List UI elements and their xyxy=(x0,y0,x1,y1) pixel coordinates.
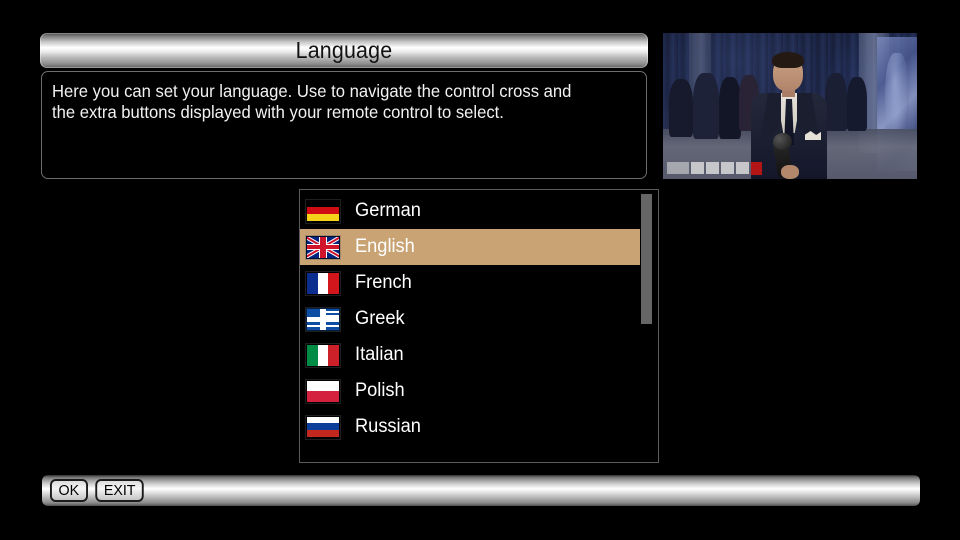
flag-germany-icon xyxy=(306,200,340,223)
language-label: French xyxy=(355,272,412,294)
video-crowd-2 xyxy=(693,73,719,139)
channel-logo-mark xyxy=(751,162,762,175)
video-crowd-6 xyxy=(847,77,867,131)
list-item-english[interactable]: English xyxy=(300,229,640,265)
list-item-polish[interactable]: Polish xyxy=(300,373,640,409)
flag-russia-icon xyxy=(306,416,340,439)
video-crowd-5 xyxy=(825,73,847,131)
flag-greece-icon xyxy=(306,308,340,331)
video-preview[interactable] xyxy=(663,33,917,179)
list-item-italian[interactable]: Italian xyxy=(300,337,640,373)
language-label: Greek xyxy=(355,308,405,330)
list-item-german[interactable]: German xyxy=(300,193,640,229)
description-line-1: Here you can set your language. Use to n… xyxy=(52,81,605,102)
language-label: Polish xyxy=(355,380,405,402)
list-item-french[interactable]: French xyxy=(300,265,640,301)
ok-button[interactable]: OK xyxy=(50,479,88,502)
language-list: German English French xyxy=(300,193,640,445)
video-crowd-3 xyxy=(719,77,741,139)
flag-united-kingdom-icon xyxy=(306,236,340,259)
flag-france-icon xyxy=(306,272,340,295)
list-scrollbar[interactable] xyxy=(641,194,652,460)
bottom-button-bar: OK EXIT xyxy=(42,475,920,506)
description-line-2: the extra buttons displayed with your re… xyxy=(52,102,605,123)
language-list-panel: German English French xyxy=(299,189,659,463)
description-panel: Here you can set your language. Use to n… xyxy=(41,71,647,179)
osd-screen: Language Here you can set your language.… xyxy=(0,0,960,540)
video-crowd-1 xyxy=(669,79,693,137)
language-label: Russian xyxy=(355,416,421,438)
flag-italy-icon xyxy=(306,344,340,367)
channel-logo xyxy=(667,161,779,175)
language-label: English xyxy=(355,236,415,258)
language-label: German xyxy=(355,200,421,222)
flag-poland-icon xyxy=(306,380,340,403)
video-subject-hair xyxy=(772,52,804,68)
list-item-russian[interactable]: Russian xyxy=(300,409,640,445)
language-label: Italian xyxy=(355,344,404,366)
title-bar: Language xyxy=(40,33,648,68)
video-subject-hand xyxy=(781,165,799,179)
page-title: Language xyxy=(296,37,393,64)
list-item-greek[interactable]: Greek xyxy=(300,301,640,337)
scrollbar-thumb[interactable] xyxy=(641,194,652,324)
exit-button[interactable]: EXIT xyxy=(95,479,144,502)
